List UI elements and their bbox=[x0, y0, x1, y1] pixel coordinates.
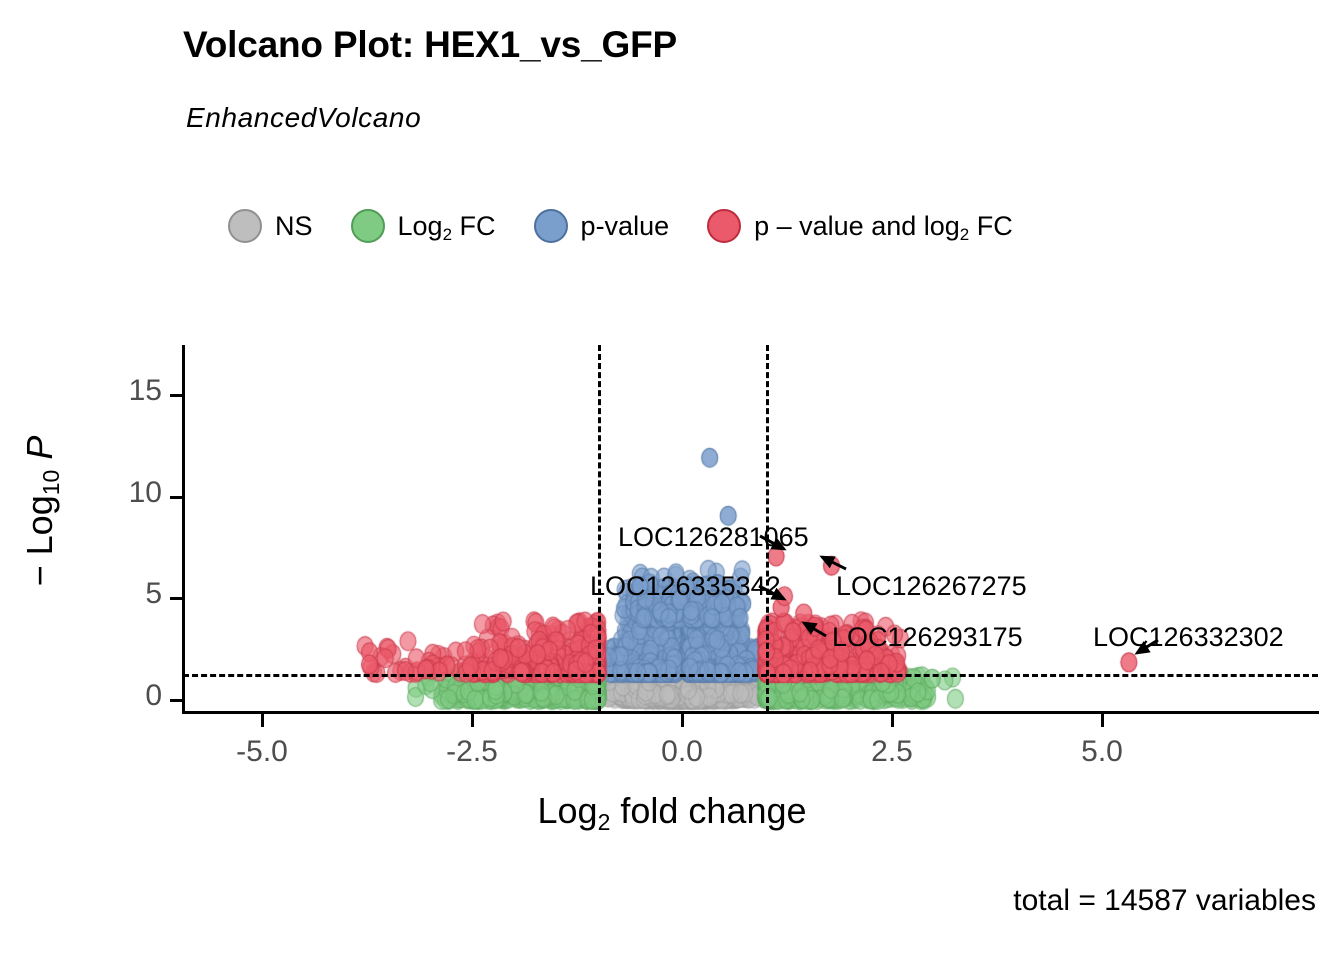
y-tick-2 bbox=[170, 496, 182, 499]
y-tick-label-1: 5 bbox=[145, 577, 162, 611]
x-tick-label-0: -5.0 bbox=[202, 735, 322, 769]
legend-item-1[interactable]: Log2 FC bbox=[351, 209, 534, 243]
gene-label-arrow-LOC126293175 bbox=[790, 609, 840, 650]
gene-label-LOC126267275: LOC126267275 bbox=[836, 573, 1027, 600]
legend-item-0[interactable]: NS bbox=[228, 209, 351, 243]
y-tick-label-2: 10 bbox=[129, 476, 162, 510]
y-axis-title-main: − Log bbox=[19, 495, 60, 586]
pvalue-key-icon bbox=[534, 209, 568, 243]
plot-subtitle: EnhancedVolcano bbox=[186, 102, 421, 134]
log2fc-key-icon bbox=[351, 209, 385, 243]
legend-item-3[interactable]: p – value and log2 FC bbox=[707, 209, 1051, 243]
gene-label-arrow-LOC126267275 bbox=[808, 543, 860, 583]
y-axis-title-sub: 10 bbox=[38, 470, 64, 496]
gene-label-arrow-LOC126332302 bbox=[1123, 626, 1172, 667]
gene-label-arrow-LOC126281065 bbox=[746, 522, 798, 563]
x-tick-3 bbox=[891, 714, 894, 727]
legend-label-2: p-value bbox=[581, 213, 670, 240]
y-tick-1 bbox=[170, 597, 182, 600]
x-axis-title: Log2 fold change bbox=[0, 790, 1344, 832]
volcano-plot-figure: Volcano Plot: HEX1_vs_GFP EnhancedVolcan… bbox=[0, 0, 1344, 960]
x-tick-label-4: 5.0 bbox=[1042, 735, 1162, 769]
legend: NSLog2 FCp-valuep – value and log2 FC bbox=[228, 203, 1051, 249]
x-tick-0 bbox=[261, 714, 264, 727]
gene-label-LOC126293175: LOC126293175 bbox=[832, 624, 1023, 651]
gene-label-arrow-LOC126335342 bbox=[745, 572, 798, 613]
threshold-line-left bbox=[598, 345, 601, 712]
threshold-line-pvalue bbox=[183, 674, 1318, 677]
total-variables-caption: total = 14587 variables bbox=[1013, 884, 1316, 918]
legend-label-0: NS bbox=[275, 213, 313, 240]
legend-label-3: p – value and log2 FC bbox=[754, 213, 1013, 240]
page-title: Volcano Plot: HEX1_vs_GFP bbox=[183, 24, 677, 66]
x-axis-title-sub: 2 bbox=[598, 809, 611, 835]
x-tick-4 bbox=[1101, 714, 1104, 727]
x-tick-2 bbox=[681, 714, 684, 727]
y-axis-title: − Log10 P bbox=[19, 331, 61, 691]
x-tick-label-3: 2.5 bbox=[832, 735, 952, 769]
x-axis-title-tail: fold change bbox=[610, 790, 806, 831]
legend-label-1: Log2 FC bbox=[398, 213, 496, 240]
y-tick-3 bbox=[170, 394, 182, 397]
x-tick-label-2: 0.0 bbox=[622, 735, 742, 769]
x-axis-title-main: Log bbox=[537, 790, 597, 831]
gene-label-LOC126332302: LOC126332302 bbox=[1093, 624, 1284, 651]
legend-item-2[interactable]: p-value bbox=[534, 209, 708, 243]
both-key-icon bbox=[707, 209, 741, 243]
x-tick-label-1: -2.5 bbox=[412, 735, 532, 769]
y-tick-0 bbox=[170, 699, 182, 702]
ns-key-icon bbox=[228, 209, 262, 243]
y-tick-label-0: 0 bbox=[145, 679, 162, 713]
y-tick-label-3: 15 bbox=[129, 374, 162, 408]
y-axis-title-tail: P bbox=[19, 436, 60, 470]
x-tick-1 bbox=[471, 714, 474, 727]
